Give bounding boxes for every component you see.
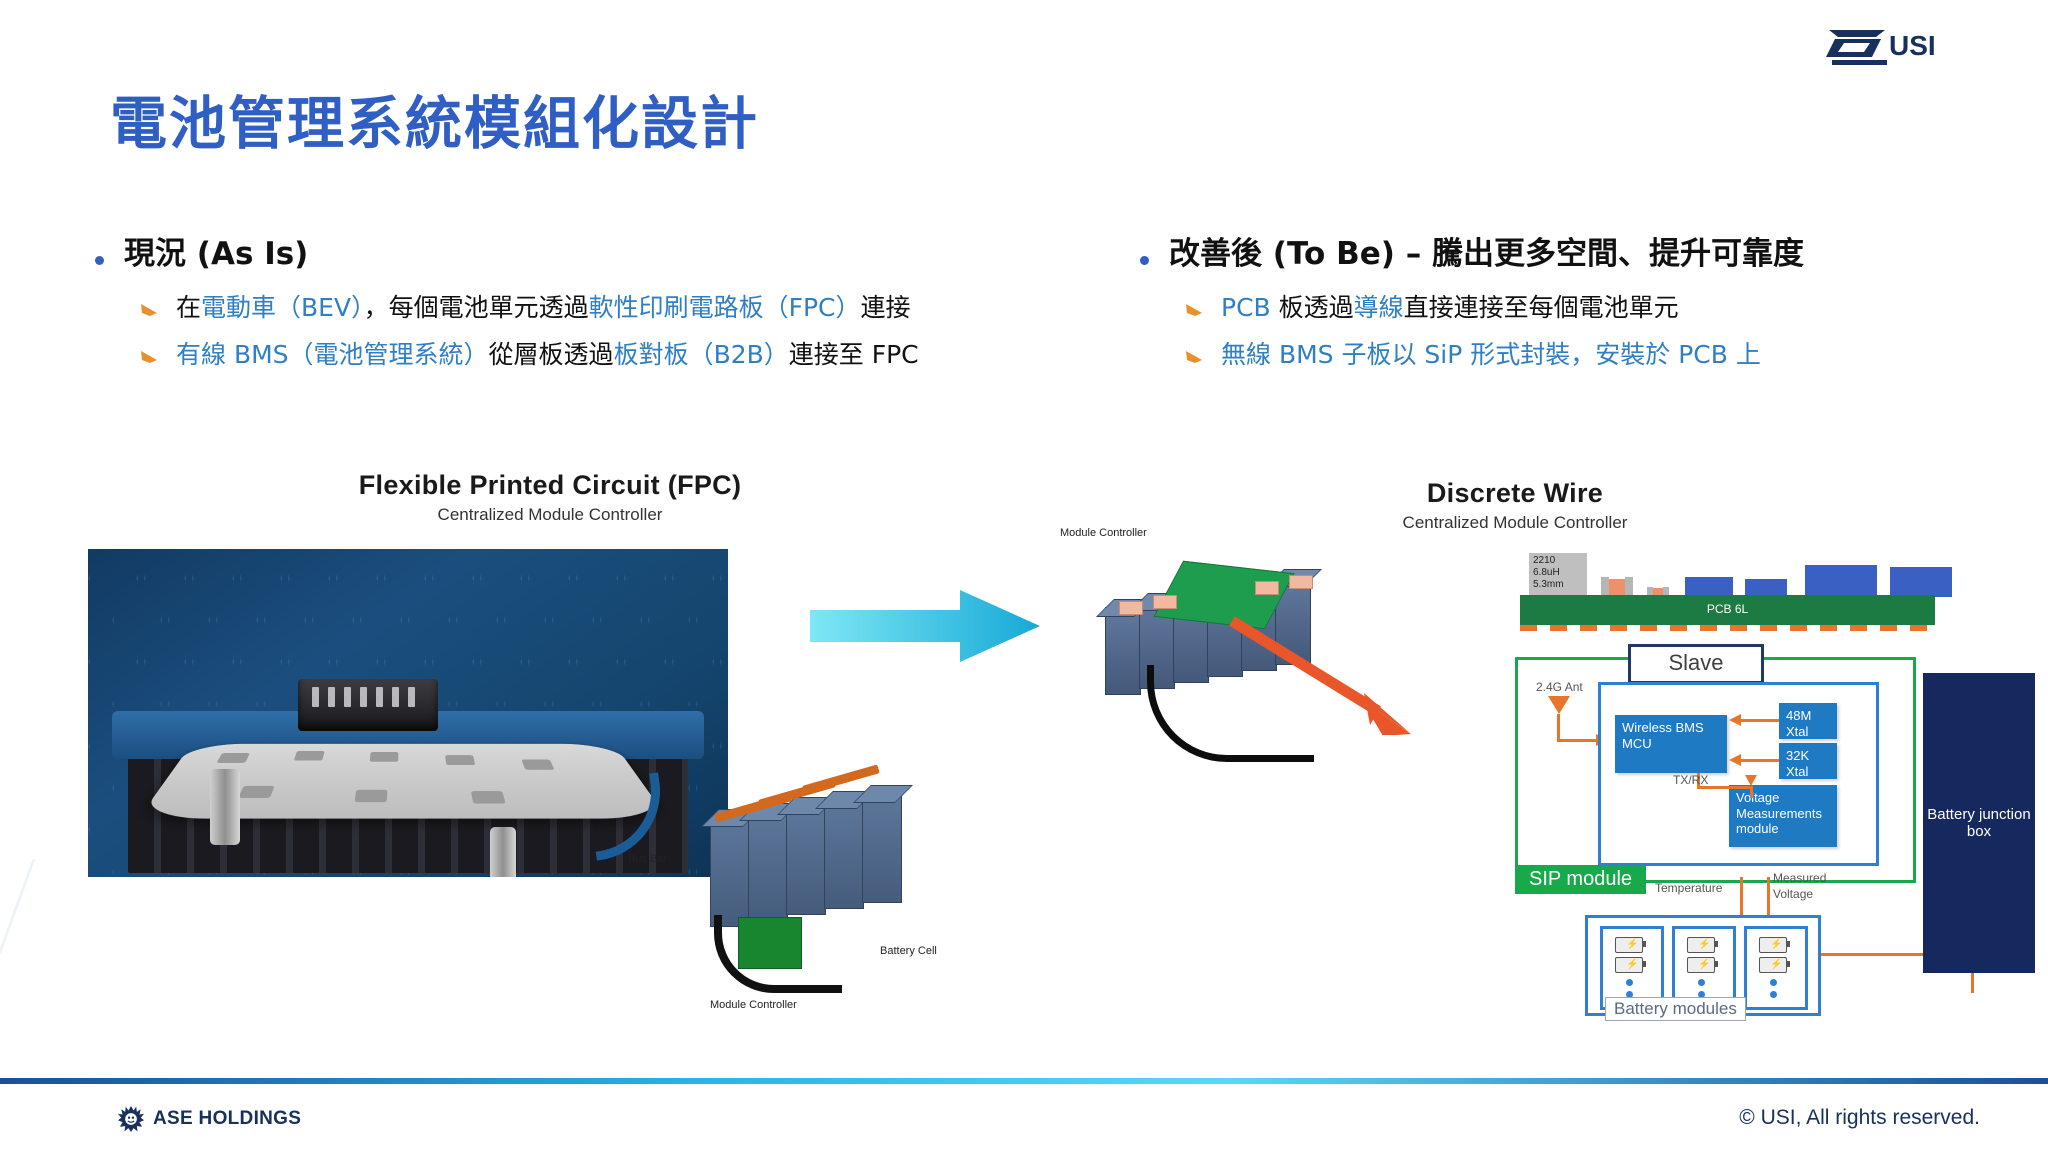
wireless-bms-block-diagram: 2210 6.8uH 5.3mm PCB 6L SIP module Slave… [1505,565,1970,1060]
sip-module-boundary: SIP module Slave 2.4G Ant Wireless BMS M… [1515,657,1916,883]
measured-voltage-line-1: Measured [1773,871,1826,885]
label-module-controller-right: Module Controller [1060,527,1147,539]
inductor-2210-label: 2210 6.8uH 5.3mm [1529,553,1587,597]
block-48m-xtal: 48M Xtal [1779,703,1837,739]
module-controller-wire [714,915,842,993]
mcu-line-2: MCU [1622,736,1720,752]
xtal48-line-2: Xtal [1786,724,1830,740]
heading-as-is-label: 現況 (As Is) [124,235,308,274]
sub-bullet-to-be-2: 無線 BMS 子板以 SiP 形式封裝，安裝於 PCB 上 [1186,338,2040,372]
pcb-cross-section: PCB 6L [1520,595,1935,625]
antenna-label: 2.4G Ant [1536,680,1583,694]
text-run: 軟性印刷電路板（FPC） [589,293,861,322]
heading-to-be-label: 改善後 (To Be) – 騰出更多空間、提升可靠度 [1169,235,1804,274]
antenna-icon [1548,696,1570,714]
battery-module-3: ⚡ ⚡ [1744,926,1808,1010]
text-run: 連接至 FPC [789,340,919,369]
bullet-dot-icon [1140,256,1149,265]
sun-logo-icon [118,1106,144,1132]
xtal48-line-1: 48M [1786,708,1830,724]
copyright-text: © USI, All rights reserved. [1739,1106,1980,1130]
usi-logo: USI [1826,20,1944,68]
orange-pointer-arrow-icon [1228,615,1413,735]
sub-bullet-to-be-2-text: 無線 BMS 子板以 SiP 形式封裝，安裝於 PCB 上 [1221,338,1761,372]
column-to-be: 改善後 (To Be) – 騰出更多空間、提升可靠度 PCB 板透過導線直接連接… [1140,235,2040,384]
temperature-label: Temperature [1655,881,1722,895]
mcu-line-1: Wireless BMS [1622,720,1720,736]
heading-to-be: 改善後 (To Be) – 騰出更多空間、提升可靠度 [1140,235,2040,274]
comp-line-2: 6.8uH [1533,567,1585,579]
comp-line-1: 2210 [1533,555,1585,567]
text-run: ，每個電池單元透過 [364,293,589,322]
figure-caption-right-sub: Centralized Module Controller [1370,513,1660,533]
txrx-label: TX/RX [1673,773,1708,787]
sub-bullet-as-is-1: 在電動車（BEV），每個電池單元透過軟性印刷電路板（FPC）連接 [141,291,1085,325]
footer: ASE HOLDINGS © USI, All rights reserved. [0,1084,2048,1152]
fpc-connector [298,679,438,731]
sub-bullet-as-is-2-text: 有線 BMS（電池管理系統）從層板透過板對板（B2B）連接至 FPC [176,338,919,372]
module-controller-cells-diagram: Bus Bar Module Controller Battery Cell [690,755,970,1045]
figure-caption-right: Discrete Wire Centralized Module Control… [1370,478,1660,533]
text-run: 板對板（B2B） [614,340,789,369]
text-run: 在 [176,293,201,322]
text-run: 無線 BMS 子板以 SiP 形式封裝，安裝於 PCB 上 [1221,340,1761,369]
figure-caption-left-title: Flexible Printed Circuit (FPC) [330,470,770,501]
fpc-battery-pack-photo [88,549,728,877]
arrow-bullet-icon [141,350,159,369]
arrow-bullet-icon [1186,350,1204,369]
text-run: 電動車（BEV） [201,293,364,322]
label-bus-bar: Bus Bar [628,853,667,865]
label-module-controller: Module Controller [710,999,797,1011]
xtal32-line-1: 32K [1786,748,1830,764]
pcb-label: PCB 6L [1520,602,1935,616]
sub-bullet-to-be-1-text: PCB 板透過導線直接連接至每個電池單元 [1221,291,1679,325]
sub-bullet-to-be-1: PCB 板透過導線直接連接至每個電池單元 [1186,291,2040,325]
figure-caption-left-sub: Centralized Module Controller [330,505,770,525]
battery-junction-box: Battery junction box [1923,673,2035,973]
text-run: 導線 [1354,293,1404,322]
battery-modules-label: Battery modules [1605,997,1746,1021]
text-run: 連接 [861,293,911,322]
slave-inner-boundary: Wireless BMS MCU 48M Xtal 32K Xtal Volta… [1598,682,1879,866]
sip-module-badge: SIP module [1515,865,1646,894]
arrow-bullet-icon [141,303,159,322]
sub-bullet-as-is-2: 有線 BMS（電池管理系統）從層板透過板對板（B2B）連接至 FPC [141,338,1085,372]
block-32k-xtal: 32K Xtal [1779,743,1837,779]
column-as-is: 現況 (As Is) 在電動車（BEV），每個電池單元透過軟性印刷電路板（FPC… [95,235,1085,384]
text-run: 有線 BMS（電池管理系統） [176,340,489,369]
pcb-solder-pads [1520,625,1935,631]
text-run: 從層板透過 [489,340,614,369]
text-run: 直接連接至每個電池單元 [1404,293,1679,322]
block-voltage-measurements-module: Voltage Measurements module [1729,785,1837,847]
xtal32-line-2: Xtal [1786,764,1830,780]
ase-holdings-logo: ASE HOLDINGS [118,1106,301,1132]
comp-line-3: 5.3mm [1533,579,1585,591]
measured-voltage-line-2: Voltage [1773,887,1813,901]
slave-label-box: Slave [1628,644,1764,684]
sub-bullet-as-is-1-text: 在電動車（BEV），每個電池單元透過軟性印刷電路板（FPC）連接 [176,291,911,325]
text-run: 板透過 [1271,293,1354,322]
ase-holdings-label: ASE HOLDINGS [153,1108,301,1130]
vm-line-2: Measurements [1736,806,1830,822]
page-title: 電池管理系統模組化設計 [110,93,759,156]
figure-caption-left: Flexible Printed Circuit (FPC) Centraliz… [330,470,770,525]
slide-root: USI 電池管理系統模組化設計 現況 (As Is) 在電動車（BEV），每個電… [0,0,2048,1152]
heading-as-is: 現況 (As Is) [95,235,1085,274]
figure-caption-right-title: Discrete Wire [1370,478,1660,509]
vm-line-3: module [1736,821,1830,837]
bullet-dot-icon [95,256,104,265]
label-battery-cell: Battery Cell [880,945,937,957]
bjbox-line-1: Battery junction [1927,806,2030,823]
transition-arrow-icon [810,590,1040,662]
bjbox-line-2: box [1927,823,2030,840]
svg-text:USI: USI [1889,30,1936,61]
text-run: PCB [1221,293,1271,322]
block-wireless-bms-mcu: Wireless BMS MCU [1615,715,1727,773]
arrow-bullet-icon [1186,303,1204,322]
